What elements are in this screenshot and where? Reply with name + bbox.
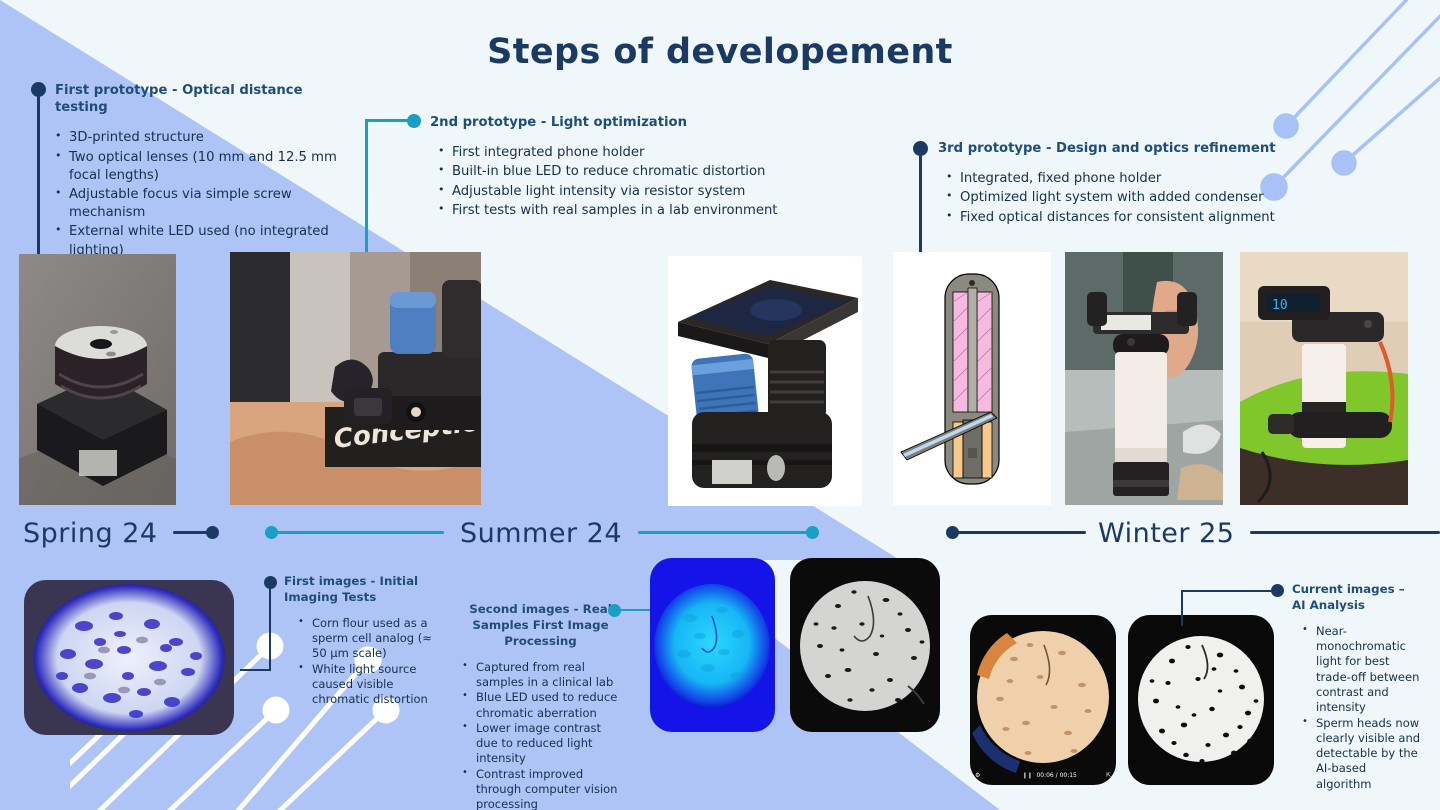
step-block-third-prototype: 3rd prototype - Design and optics refine… bbox=[938, 140, 1338, 228]
step-bullet: First integrated phone holder bbox=[438, 144, 830, 162]
step-heading: Current images – AI Analysis bbox=[1292, 582, 1422, 614]
step-bullet-list: 3D-printed structure Two optical lenses … bbox=[55, 129, 355, 260]
step-connector-first-prototype bbox=[37, 95, 40, 260]
step-bullet: First tests with real samples in a lab e… bbox=[438, 202, 830, 220]
timeline-dot-summer-end bbox=[806, 526, 819, 539]
photo-p1-lens-block bbox=[19, 254, 176, 505]
photo-p5-handheld-device bbox=[1065, 252, 1223, 505]
timeline-label-winter-25: Winter 25 bbox=[1098, 518, 1234, 549]
step-bullet: Lower image contrast due to reduced ligh… bbox=[462, 721, 623, 767]
step-marker-second-prototype bbox=[407, 114, 421, 128]
timeline-label-summer-24: Summer 24 bbox=[460, 518, 622, 549]
step-bullet-list: Corn flour used as a sperm cell analog (… bbox=[298, 616, 444, 708]
step-bullet-list: First integrated phone holder Built-in b… bbox=[438, 144, 830, 220]
timeline-dot-spring-end bbox=[206, 526, 219, 539]
photo-p3-phone-mount bbox=[668, 256, 862, 506]
step-bullet: Optimized light system with added conden… bbox=[946, 189, 1338, 207]
step-bullet: Corn flour used as a sperm cell analog (… bbox=[298, 616, 444, 662]
photo-m1-cornflour-white bbox=[24, 580, 234, 735]
step-heading: First prototype - Optical distance testi… bbox=[55, 82, 355, 116]
photo-p6-green-stand: 10 bbox=[1240, 252, 1408, 505]
photo-p2-prototype-bench: Conception bbox=[230, 252, 481, 505]
photo-m5-ai-threshold bbox=[1128, 615, 1274, 785]
step-connector-third-prototype bbox=[919, 153, 922, 261]
step-heading: Second images - Real Samples First Image… bbox=[458, 602, 623, 650]
step-bullet: White light source caused visible chroma… bbox=[298, 662, 444, 708]
step-bullet: Integrated, fixed phone holder bbox=[946, 170, 1338, 188]
step-bullet: 3D-printed structure bbox=[55, 129, 355, 147]
timeline-segment-winter-left bbox=[953, 531, 1086, 534]
photo-m3-processed-bw bbox=[790, 558, 940, 732]
step-connector-current-images-vertical bbox=[1181, 590, 1183, 626]
video-timecode: 00:06 / 00:15 bbox=[1036, 772, 1076, 779]
step-heading: 2nd prototype - Light optimization bbox=[430, 114, 830, 131]
step-connector-second-images-horizontal bbox=[615, 609, 655, 611]
timeline-segment-summer-right bbox=[638, 531, 814, 534]
poster-canvas: Steps of developement First prototype - … bbox=[0, 0, 1440, 810]
video-control-bar[interactable]: ⚙ ❙❙ 00:06 / 00:15 ⇱ bbox=[970, 765, 1116, 785]
timeline-label-spring-24: Spring 24 bbox=[23, 518, 158, 549]
settings-icon[interactable]: ⚙ bbox=[975, 772, 980, 779]
step-bullet: Near-monochromatic light for best trade-… bbox=[1302, 624, 1422, 716]
step-connector-current-images-horizontal bbox=[1181, 590, 1277, 592]
step-block-current-images: Current images – AI Analysis Near-monoch… bbox=[1292, 582, 1422, 792]
step-bullet: Built-in blue LED to reduce chromatic di… bbox=[438, 163, 830, 181]
timeline-segment-summer-left bbox=[272, 531, 444, 534]
step-heading: 3rd prototype - Design and optics refine… bbox=[938, 140, 1338, 157]
timeline-segment-winter-right bbox=[1250, 531, 1440, 534]
page-title: Steps of developement bbox=[0, 32, 1440, 72]
step-bullet: Fixed optical distances for consistent a… bbox=[946, 209, 1338, 227]
step-marker-current-images bbox=[1271, 584, 1284, 597]
step-block-first-images: First images - Initial Imaging Tests Cor… bbox=[284, 574, 444, 708]
step-connector-first-images-vertical bbox=[269, 586, 271, 671]
photo-m4-clinical-color-video[interactable]: ⚙ ❙❙ 00:06 / 00:15 ⇱ bbox=[970, 615, 1116, 785]
step-bullet: Blue LED used to reduce chromatic aberra… bbox=[462, 690, 623, 721]
step-block-second-prototype: 2nd prototype - Light optimization First… bbox=[430, 114, 830, 221]
fullscreen-icon[interactable]: ⇱ bbox=[1106, 772, 1111, 779]
step-bullet-list: Captured from real samples in a clinical… bbox=[462, 660, 623, 810]
step-bullet: Adjustable light intensity via resistor … bbox=[438, 183, 830, 201]
step-bullet: Contrast improved through computer visio… bbox=[462, 767, 623, 810]
step-bullet: Two optical lenses (10 mm and 12.5 mm fo… bbox=[55, 149, 355, 185]
svg-text:10: 10 bbox=[1272, 298, 1288, 313]
pause-icon[interactable]: ❙❙ bbox=[1022, 772, 1032, 779]
step-bullet: Sperm heads now clearly visible and dete… bbox=[1302, 716, 1422, 792]
step-block-first-prototype: First prototype - Optical distance testi… bbox=[55, 82, 355, 261]
step-connector-first-images-horizontal bbox=[240, 669, 271, 671]
photo-m2-blue-led-sample bbox=[650, 558, 775, 732]
photo-p4-cad-section bbox=[893, 252, 1051, 505]
step-block-second-images: Second images - Real Samples First Image… bbox=[458, 602, 623, 810]
step-heading: First images - Initial Imaging Tests bbox=[284, 574, 444, 606]
step-bullet-list: Near-monochromatic light for best trade-… bbox=[1302, 624, 1422, 792]
step-bullet-list: Integrated, fixed phone holder Optimized… bbox=[946, 170, 1338, 227]
step-bullet: Adjustable focus via simple screw mechan… bbox=[55, 186, 355, 222]
step-bullet: Captured from real samples in a clinical… bbox=[462, 660, 623, 691]
step-connector-second-prototype-vertical bbox=[365, 119, 368, 257]
